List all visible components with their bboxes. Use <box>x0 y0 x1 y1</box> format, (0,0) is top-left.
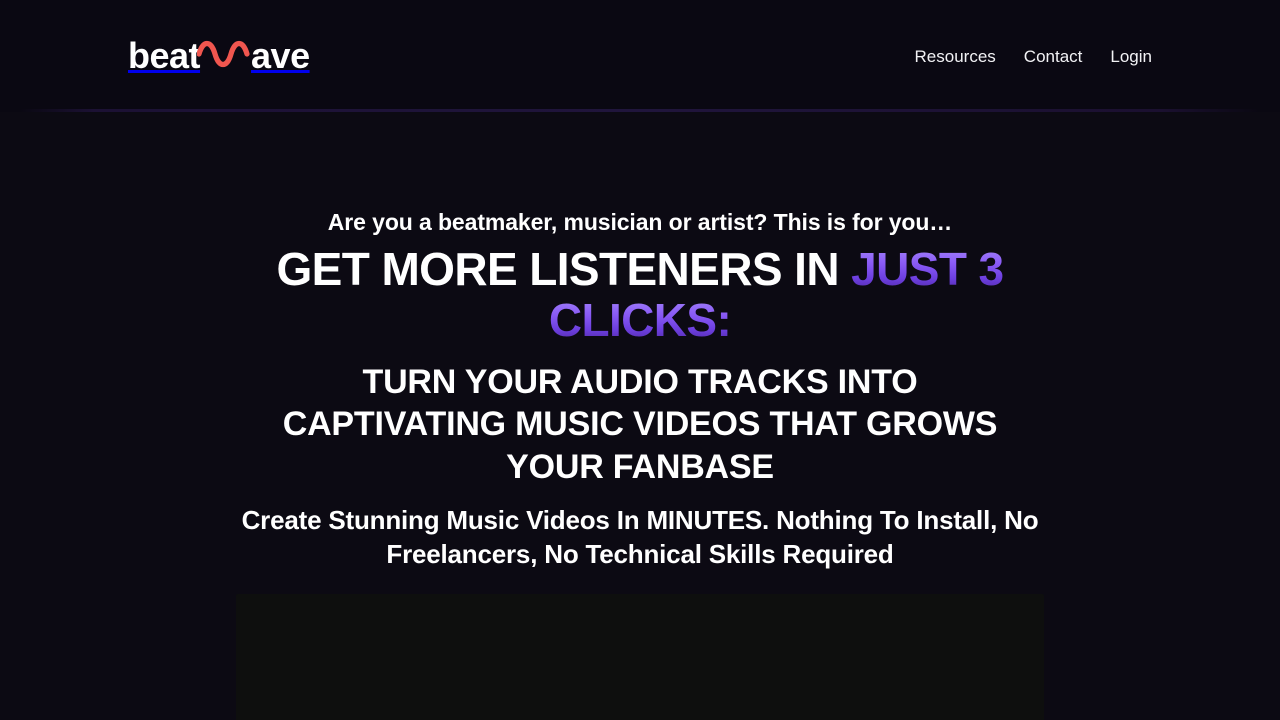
hero-eyebrow: Are you a beatmaker, musician or artist?… <box>328 208 952 238</box>
brand-logo[interactable]: beat ave <box>128 33 310 79</box>
hero-support-text: Create Stunning Music Videos In MINUTES.… <box>240 504 1040 572</box>
hero-subheadline: TURN YOUR AUDIO TRACKS INTO CAPTIVATING … <box>260 361 1020 489</box>
hero-section: Are you a beatmaker, musician or artist?… <box>0 112 1280 720</box>
nav-link-resources[interactable]: Resources <box>915 48 996 65</box>
hero-headline-plain: GET MORE LISTENERS IN <box>277 243 852 295</box>
header-divider <box>20 109 1260 112</box>
nav-link-login[interactable]: Login <box>1110 48 1152 65</box>
hero-headline: GET MORE LISTENERS IN JUST 3 CLICKS: <box>240 244 1040 347</box>
audio-wave-icon <box>197 39 253 74</box>
logo-text-before: beat <box>128 38 200 74</box>
video-player-placeholder[interactable] <box>236 594 1044 720</box>
site-header: beat ave Resources Contact Login <box>0 0 1280 112</box>
nav-link-contact[interactable]: Contact <box>1024 48 1083 65</box>
logo-text-after: ave <box>251 38 310 74</box>
main-navigation: Resources Contact Login <box>915 48 1152 65</box>
